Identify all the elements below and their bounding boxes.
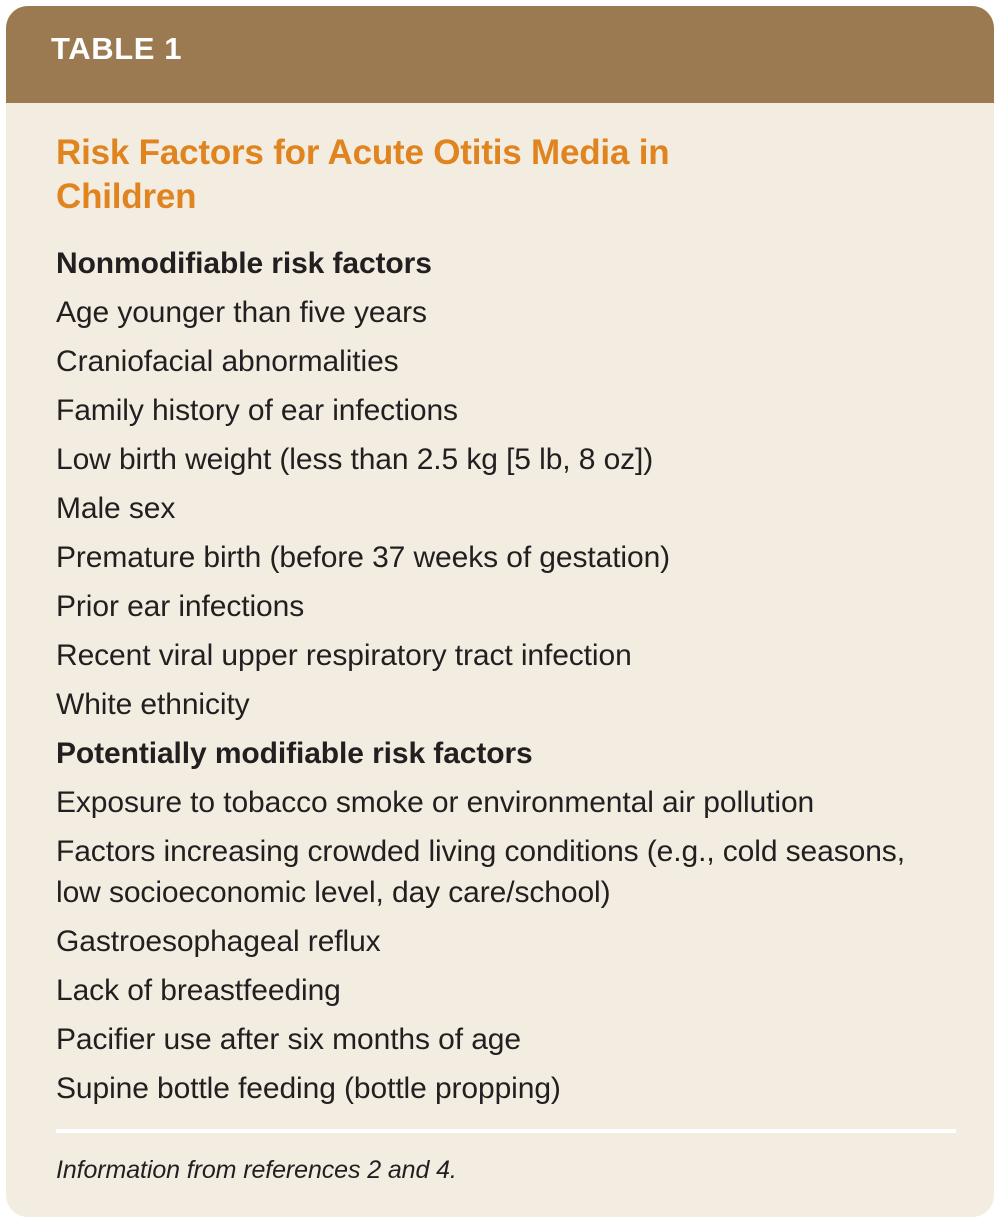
risk-factor-section-heading: Potentially modifiable risk factors	[56, 729, 954, 778]
source-note: Information from references 2 and 4.	[56, 1155, 954, 1185]
table-card: TABLE 1 Risk Factors for Acute Otitis Me…	[6, 6, 994, 1217]
risk-factor-item: Age younger than five years	[56, 288, 954, 337]
risk-factor-item: Factors increasing crowded living condit…	[56, 827, 954, 917]
risk-factor-item: Male sex	[56, 484, 954, 533]
risk-factor-item: Exposure to tobacco smoke or environment…	[56, 778, 954, 827]
risk-factor-item: Lack of breastfeeding	[56, 966, 954, 1015]
table-body: Risk Factors for Acute Otitis Media in C…	[6, 103, 994, 1217]
risk-factor-item: Low birth weight (less than 2.5 kg [5 lb…	[56, 435, 954, 484]
risk-factor-item: Family history of ear infections	[56, 386, 954, 435]
risk-factor-section-heading: Nonmodifiable risk factors	[56, 239, 954, 288]
risk-factor-item: Gastroesophageal reflux	[56, 917, 954, 966]
table-title: Risk Factors for Acute Otitis Media in C…	[56, 131, 796, 219]
risk-factor-item: Prior ear infections	[56, 582, 954, 631]
risk-factor-item: Supine bottle feeding (bottle propping)	[56, 1064, 954, 1113]
risk-factor-item: Pacifier use after six months of age	[56, 1015, 954, 1064]
risk-factor-item: Craniofacial abnormalities	[56, 337, 954, 386]
risk-factor-item: Recent viral upper respiratory tract inf…	[56, 631, 954, 680]
footer-divider	[56, 1129, 956, 1133]
risk-factor-item: Premature birth (before 37 weeks of gest…	[56, 533, 954, 582]
table-header-band: TABLE 1	[6, 6, 994, 103]
table-number-label: TABLE 1	[51, 33, 182, 64]
risk-factor-list: Nonmodifiable risk factorsAge younger th…	[56, 239, 954, 1113]
risk-factor-item: White ethnicity	[56, 680, 954, 729]
